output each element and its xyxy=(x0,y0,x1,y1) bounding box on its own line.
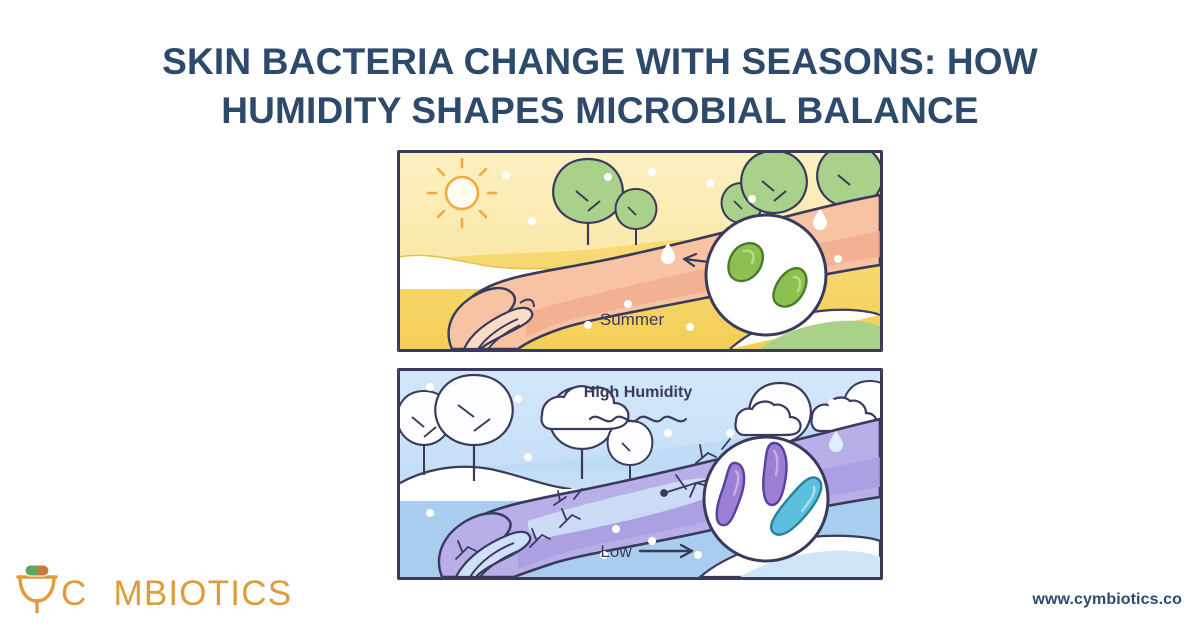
brand-logo[interactable]: CMBIOTICS xyxy=(14,561,292,613)
summer-skin-panel: Summer xyxy=(397,150,883,352)
capsule-icon xyxy=(25,565,49,576)
brand-logo-text-right: MBIOTICS xyxy=(113,574,292,613)
summer-scene-svg: Summer xyxy=(400,153,880,349)
high-humidity-label: High Humidity xyxy=(584,384,693,401)
low-label: Low xyxy=(600,542,632,561)
summer-season-label: Summer xyxy=(600,310,665,329)
page-title: SKIN BACTERIA CHANGE WITH SEASONS: HOW H… xyxy=(120,38,1080,136)
seasonal-skin-illustration: Summer xyxy=(397,150,887,580)
brand-logo-text-left: C xyxy=(61,574,87,613)
summer-microbe-magnifier xyxy=(706,215,826,335)
winter-skin-panel: High Humidity Low xyxy=(397,368,883,580)
brand-logo-text: CMBIOTICS xyxy=(61,576,292,611)
winter-scene-svg: High Humidity Low xyxy=(400,371,880,577)
site-url[interactable]: www.cymbiotics.co xyxy=(1032,591,1182,609)
winter-microbe-magnifier xyxy=(704,437,828,561)
cymbiotics-capsule-mark-icon xyxy=(14,563,60,613)
page-title-block: SKIN BACTERIA CHANGE WITH SEASONS: HOW H… xyxy=(120,38,1080,136)
